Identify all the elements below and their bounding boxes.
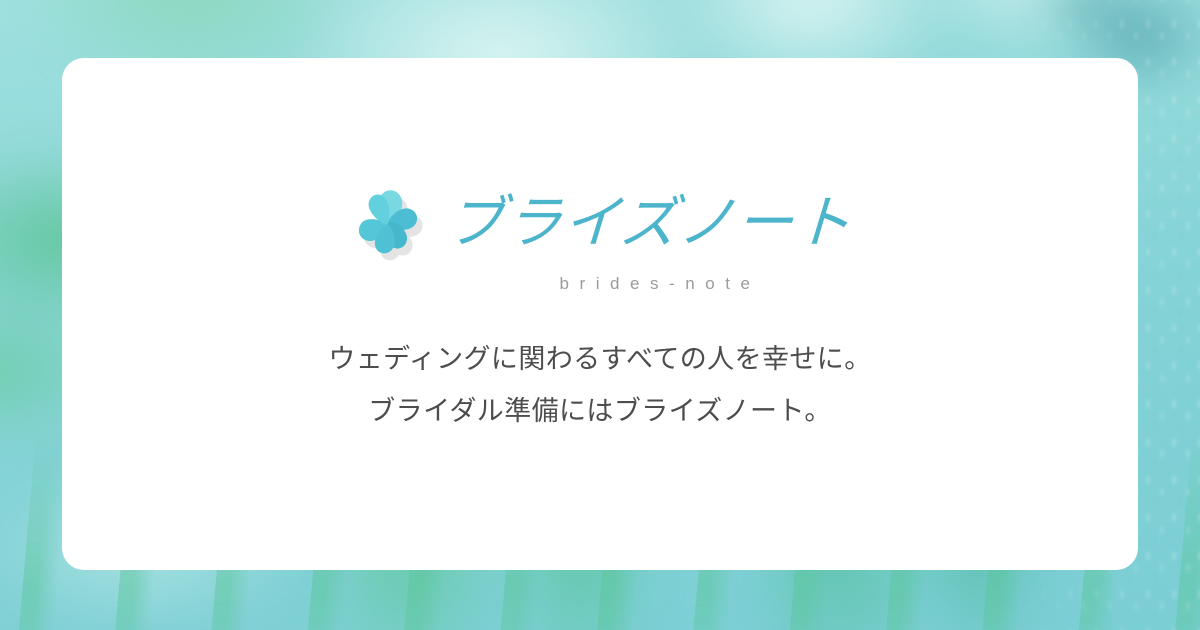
clover-flower-icon bbox=[347, 184, 425, 262]
content-card: ブライズノート brides-note ウェディングに関わるすべての人を幸せに。… bbox=[62, 58, 1138, 570]
tagline-line-2: ブライダル準備にはブライズノート。 bbox=[328, 386, 871, 438]
brand-logo-lockup: ブライズノート brides-note bbox=[347, 184, 852, 294]
logo-row: ブライズノート bbox=[347, 184, 852, 262]
tagline-line-1: ウェディングに関わるすべての人を幸せに。 bbox=[328, 334, 871, 386]
brand-romaji: brides-note bbox=[560, 274, 761, 294]
brand-wordmark: ブライズノート bbox=[446, 195, 854, 252]
page-background: ブライズノート brides-note ウェディングに関わるすべての人を幸せに。… bbox=[0, 0, 1200, 630]
tagline: ウェディングに関わるすべての人を幸せに。 ブライダル準備にはブライズノート。 bbox=[328, 334, 871, 438]
